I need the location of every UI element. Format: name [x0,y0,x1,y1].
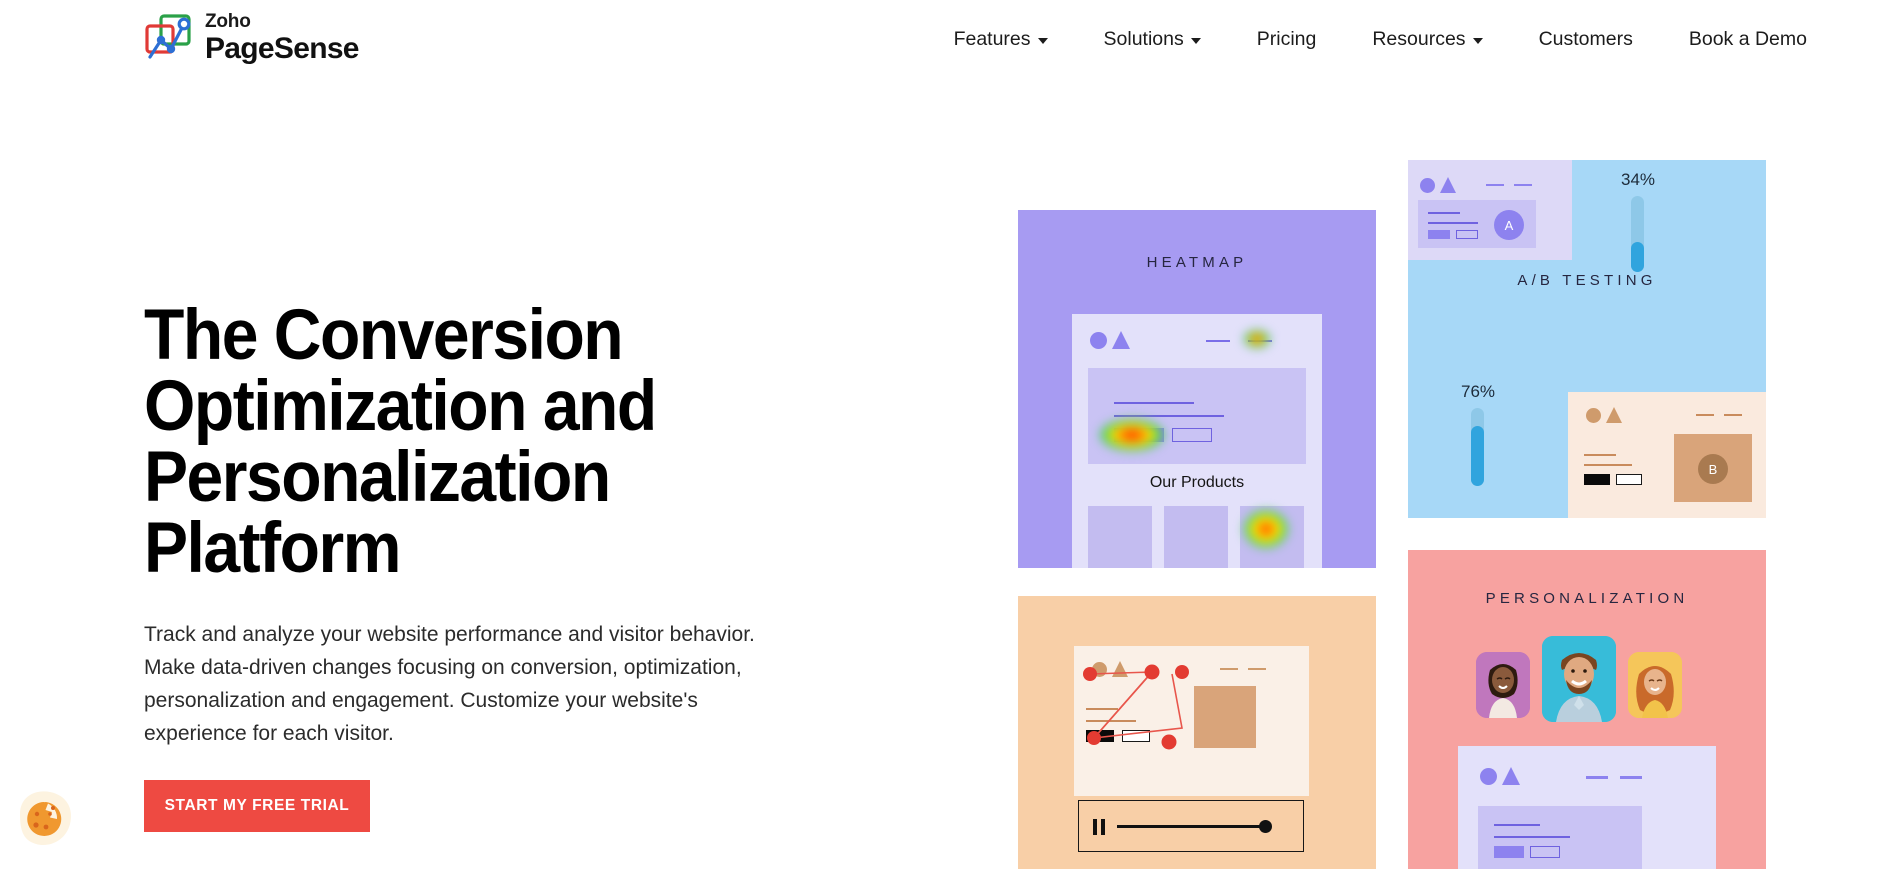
text-line [1494,836,1570,838]
primary-button [1114,428,1164,442]
gauge-track-b [1471,408,1484,486]
secondary-button [1530,846,1560,858]
secondary-button [1456,230,1478,239]
heat-blob [1244,330,1270,348]
variant-b-badge: B [1698,454,1728,484]
brand-zoho-text: Zoho [205,12,359,31]
session-click-path [1074,646,1309,796]
brand-logo-link[interactable]: Zoho PageSense [144,12,359,64]
nav-item-pricing[interactable]: Pricing [1229,0,1345,78]
hero-section: The Conversion Optimization and Personal… [144,300,904,832]
pagesense-chart-logo-icon [144,13,192,63]
heatmap-card-label: HEATMAP [1018,254,1376,271]
chevron-down-icon [1473,38,1483,44]
nav-line [1248,340,1272,342]
triangle-logo-icon [1112,661,1128,677]
personalization-card-label: PERSONALIZATION [1408,590,1766,607]
text-line [1114,402,1194,404]
variant-b-mock-page: B [1568,392,1766,518]
chevron-down-icon [1191,38,1201,44]
brand-product-text: PageSense [205,34,359,64]
text-line [1428,212,1460,214]
nav-item-resources[interactable]: Resources [1344,0,1510,78]
gauge-track-a [1631,196,1644,272]
product-tile [1088,506,1152,568]
secondary-button [1616,474,1642,485]
scrubber-track[interactable] [1117,825,1265,828]
nav-line [1486,184,1504,186]
circle-logo-icon [1090,332,1107,349]
secondary-button [1172,428,1212,442]
illustration-card-ab-testing: A/B TESTING A 34% 76% [1408,160,1766,518]
primary-button [1428,230,1450,239]
nav-label-customers: Customers [1539,28,1633,51]
primary-button [1584,474,1610,485]
triangle-logo-icon [1502,767,1520,785]
heat-blob [1244,510,1288,548]
heatmap-mock-heading: Our Products [1072,474,1322,492]
nav-label-features: Features [954,28,1031,51]
avatar-man-center [1542,636,1616,722]
nav-line [1248,668,1266,670]
text-line [1086,708,1118,710]
nav-line [1620,776,1642,779]
nav-item-book-a-demo[interactable]: Book a Demo [1661,0,1835,78]
primary-button [1494,846,1524,858]
heatmap-mock-page: Our Products [1072,314,1322,568]
circle-logo-icon [1480,768,1497,785]
site-header: Zoho PageSense Features Solutions Pricin… [0,0,1887,78]
gauge-label-34: 34% [1608,170,1668,190]
heatmap-hero-block [1088,368,1306,464]
nav-line [1586,776,1608,779]
gauge-fill-b [1471,426,1484,486]
session-mock-page [1074,646,1309,796]
illustration-card-heatmap: HEATMAP Our Products [1018,210,1376,568]
text-line [1584,454,1616,456]
avatar-woman-right [1628,652,1682,718]
nav-line [1514,184,1532,186]
product-tile [1240,506,1304,568]
illustration-card-personalization: PERSONALIZATION [1408,550,1766,869]
text-line [1428,222,1478,224]
text-line [1494,824,1540,826]
pause-icon[interactable] [1093,819,1106,835]
hero-subtitle: Track and analyze your website performan… [144,618,774,750]
variant-a-badge: A [1494,210,1524,240]
variant-a-content-block [1418,200,1536,248]
nav-line [1206,340,1230,342]
text-line [1086,720,1136,722]
primary-button [1086,730,1114,742]
text-line [1114,415,1224,417]
hero-headline: The Conversion Optimization and Personal… [144,300,851,584]
nav-label-pricing: Pricing [1257,28,1317,51]
nav-line [1724,414,1742,416]
triangle-logo-icon [1606,407,1622,423]
nav-label-book-a-demo: Book a Demo [1689,28,1807,51]
gauge-fill-a [1631,242,1644,272]
circle-logo-icon [1420,178,1435,193]
start-free-trial-button[interactable]: START MY FREE TRIAL [144,780,370,832]
session-player-bar[interactable] [1078,800,1304,852]
nav-label-solutions: Solutions [1104,28,1184,51]
gauge-label-76: 76% [1448,382,1508,402]
triangle-logo-icon [1440,177,1456,193]
secondary-button [1122,730,1150,742]
circle-logo-icon [1092,662,1107,677]
triangle-logo-icon [1112,331,1130,349]
personalization-mock-page [1458,746,1716,869]
ab-card-label: A/B TESTING [1408,272,1766,289]
nav-item-customers[interactable]: Customers [1511,0,1661,78]
nav-item-solutions[interactable]: Solutions [1076,0,1229,78]
nav-label-resources: Resources [1372,28,1465,51]
circle-logo-icon [1586,408,1601,423]
scrubber-handle-icon[interactable] [1259,820,1272,833]
heat-blob [1100,419,1164,451]
nav-line [1696,414,1714,416]
variant-a-mock-page: A [1408,160,1572,260]
product-tile [1164,506,1228,568]
text-line [1584,464,1632,466]
chevron-down-icon [1038,38,1048,44]
avatar-woman-left [1476,652,1530,718]
illustration-card-session-recording [1018,596,1376,869]
main-navigation: Features Solutions Pricing Resources Cus… [926,0,1835,78]
personalization-content-block [1478,806,1642,869]
nav-item-features[interactable]: Features [926,0,1076,78]
variant-b-image-block [1674,434,1752,502]
nav-line [1220,668,1238,670]
session-image-block [1194,686,1256,748]
cookie-consent-icon[interactable] [10,786,78,852]
